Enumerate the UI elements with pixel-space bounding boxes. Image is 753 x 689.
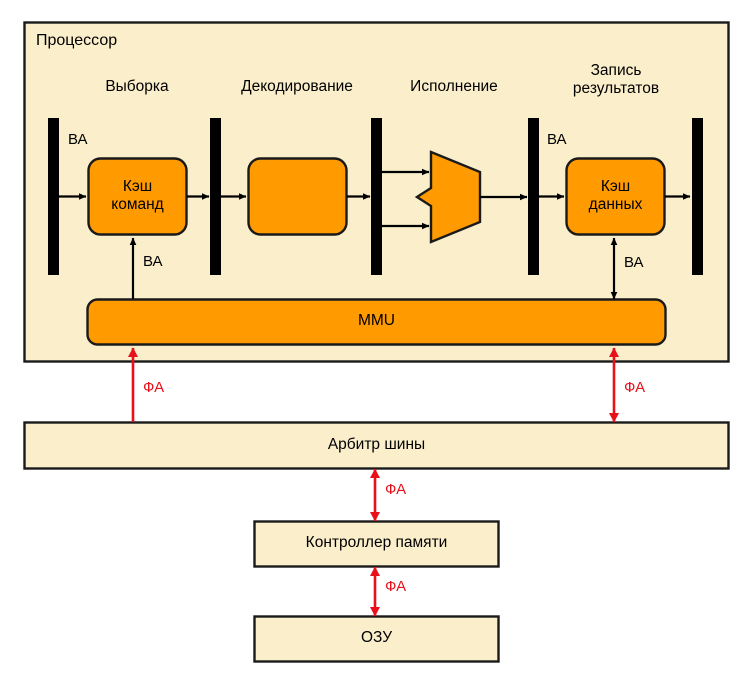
edge-label-va-dcache-mmu: ВА xyxy=(624,254,644,272)
diagram-canvas: Процессор Выборка Декодирование Исполнен… xyxy=(0,0,753,689)
edge-label-fa-memctl-ram: ФА xyxy=(385,578,406,596)
edge-label-va-icache-mmu: ВА xyxy=(143,253,163,271)
stage-label-fetch: Выборка xyxy=(105,78,168,96)
edge-label-fa-arbiter-memctl: ФА xyxy=(385,481,406,499)
edge-label-fa-mmu-right: ФА xyxy=(624,379,645,397)
instruction-cache-label: Кэш команд xyxy=(111,178,163,215)
ram-label: ОЗУ xyxy=(361,629,392,647)
memory-controller-label: Контроллер памяти xyxy=(306,534,448,552)
edge-label-fa-mmu-left: ФА xyxy=(143,379,164,397)
mmu-label: MMU xyxy=(358,312,395,330)
stage-label-writeback: Запись результатов xyxy=(573,62,659,99)
pipeline-register-bar-3 xyxy=(371,118,382,275)
pipeline-register-bar-2 xyxy=(210,118,221,275)
bus-arbiter-label: Арбитр шины xyxy=(328,436,425,454)
processor-label: Процессор xyxy=(36,32,117,51)
diagram-graphics xyxy=(0,0,753,689)
data-cache-label: Кэш данных xyxy=(589,178,643,215)
edge-label-va-writeback-in: ВА xyxy=(547,131,567,149)
stage-label-decode: Декодирование xyxy=(241,78,353,96)
decoder-box xyxy=(249,159,347,235)
pipeline-register-bar-4 xyxy=(528,118,539,275)
pipeline-register-bar-5 xyxy=(692,118,703,275)
stage-label-execute: Исполнение xyxy=(410,78,498,96)
edge-label-va-fetch-in: ВА xyxy=(68,131,88,149)
pipeline-register-bar-1 xyxy=(48,118,59,275)
